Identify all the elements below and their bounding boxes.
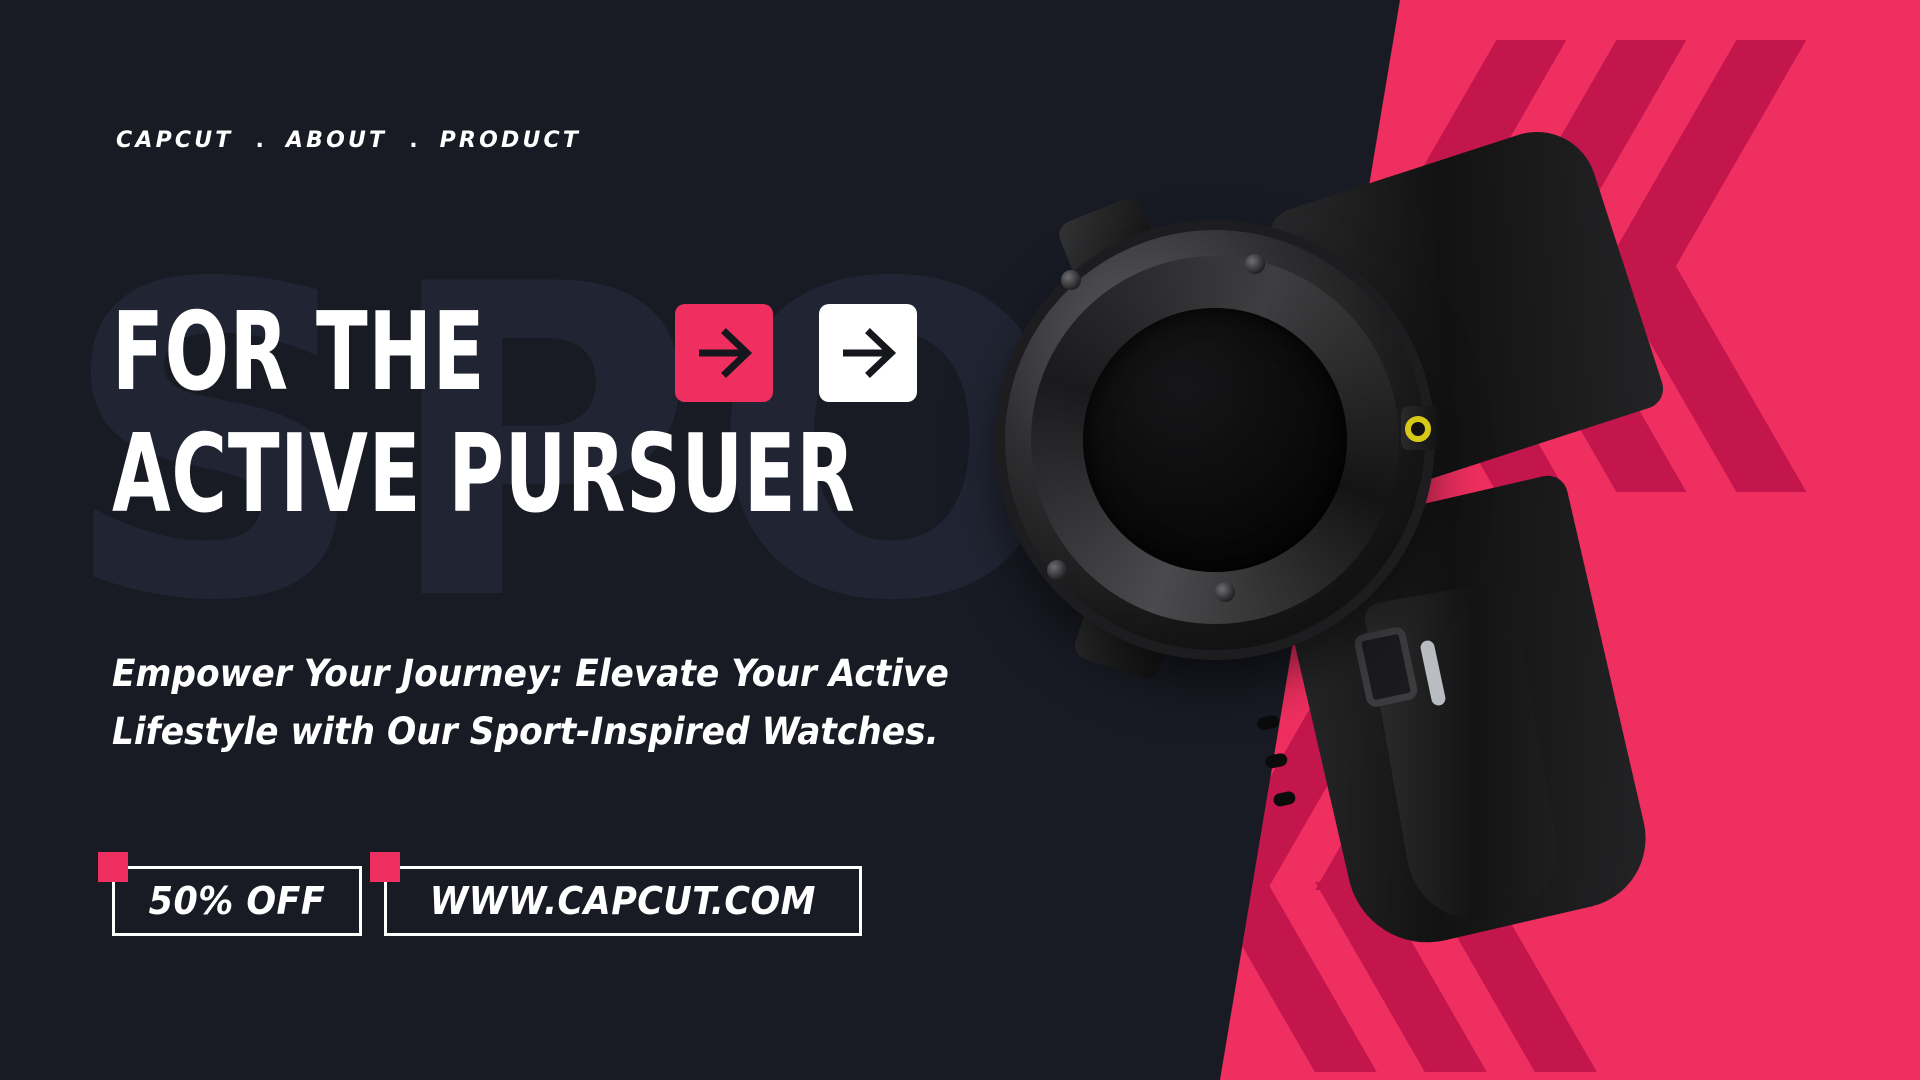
headline-row-2: ACTIVE PURSUER <box>112 422 1065 528</box>
arrow-right-icon <box>693 322 755 384</box>
discount-badge-wrap: 50% OFF <box>112 866 362 936</box>
promo-banner: SPORT CAPCUT . ABOUT . PRODUCT FOR THE <box>0 0 1920 1080</box>
bezel-screw <box>1047 560 1067 580</box>
headline-block: FOR THE ACTIVE PURSUE <box>112 300 1065 528</box>
arrow-right-button-pink[interactable] <box>675 304 773 402</box>
website-badge-wrap: WWW.CAPCUT.COM <box>384 866 862 936</box>
headline-row-1: FOR THE <box>112 300 1065 406</box>
discount-badge-label: 50% OFF <box>149 879 326 923</box>
website-badge[interactable]: WWW.CAPCUT.COM <box>384 866 862 936</box>
bezel-screw <box>1061 270 1081 290</box>
watch-crown-ring <box>1405 416 1431 442</box>
nav-item-about[interactable]: ABOUT <box>286 128 387 153</box>
website-badge-label: WWW.CAPCUT.COM <box>430 879 816 923</box>
headline-line-2: ACTIVE PURSUER <box>112 421 856 529</box>
footer-badges: 50% OFF WWW.CAPCUT.COM <box>112 866 862 936</box>
arrow-right-icon <box>837 322 899 384</box>
watch-strap-holes <box>1256 714 1302 833</box>
bezel-screw <box>1215 582 1235 602</box>
nav-separator: . <box>234 128 286 153</box>
nav-separator: . <box>387 128 439 153</box>
arrow-right-button-white[interactable] <box>819 304 917 402</box>
subheading-line-2: Lifestyle with Our Sport-Inspired Watche… <box>112 703 949 761</box>
watch-case <box>1005 230 1425 650</box>
headline-line-1: FOR THE <box>112 299 485 407</box>
bezel-screw <box>1245 254 1265 274</box>
product-image-smartwatch <box>1060 170 1780 930</box>
subheading-block: Empower Your Journey: Elevate Your Activ… <box>112 645 949 762</box>
subheading-line-1: Empower Your Journey: Elevate Your Activ… <box>112 645 949 703</box>
corner-square-accent <box>98 852 128 882</box>
nav-item-product[interactable]: PRODUCT <box>440 128 581 153</box>
discount-badge[interactable]: 50% OFF <box>112 866 362 936</box>
watch-face-screen <box>1083 308 1347 572</box>
nav-item-capcut[interactable]: CAPCUT <box>116 128 234 153</box>
top-navigation: CAPCUT . ABOUT . PRODUCT <box>116 128 581 153</box>
watch-bezel <box>1031 256 1399 624</box>
corner-square-accent <box>370 852 400 882</box>
